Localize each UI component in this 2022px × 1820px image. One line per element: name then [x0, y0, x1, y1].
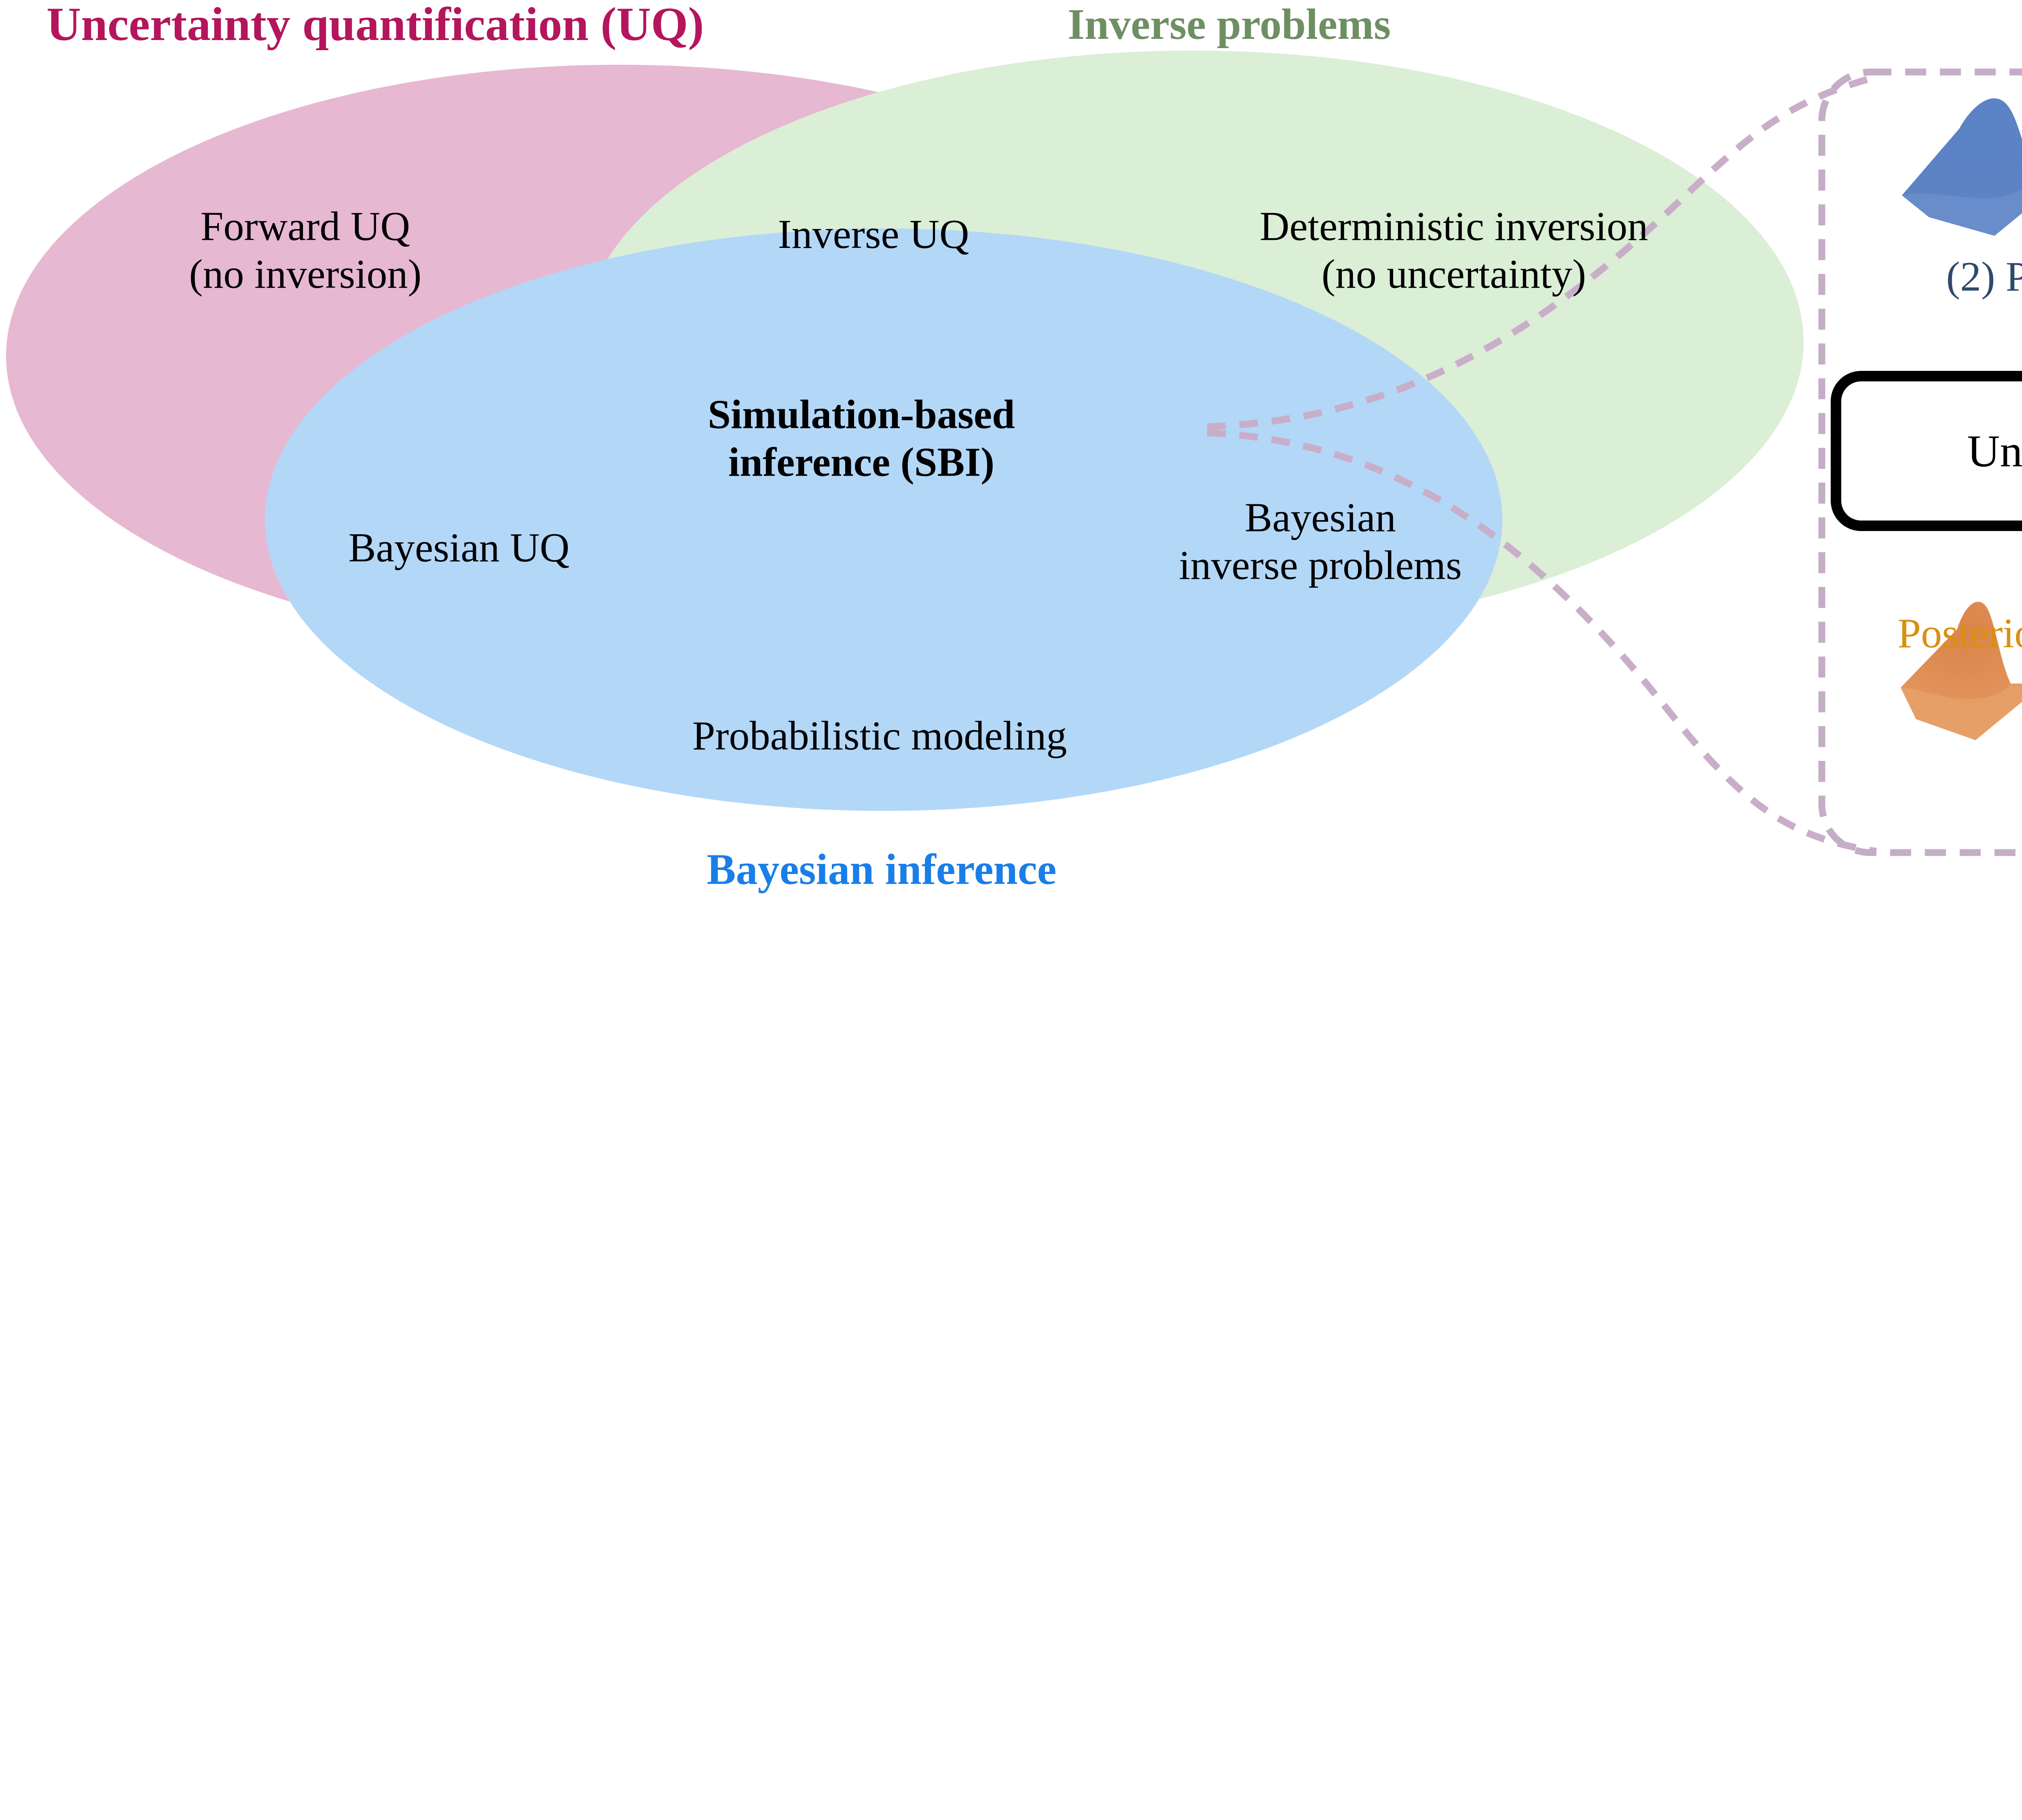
prior-label: (2) Prior — [1946, 253, 2022, 302]
region-simulation-based-inference: Simulation-based inference (SBI) — [708, 391, 1015, 487]
region-bayesian-uq: Bayesian UQ — [349, 524, 570, 572]
region-probabilistic-modeling: Probabilistic modeling — [692, 712, 1067, 760]
region-bayesian-inverse-problems: Bayesian inverse problems — [1179, 494, 1462, 590]
unknowns-box-label: Unknowns θ — [1967, 425, 2022, 478]
region-inverse-uq: Inverse UQ — [778, 211, 969, 258]
region-forward-uq: Forward UQ (no inversion) — [189, 203, 421, 299]
title-bayesian-inference: Bayesian inference — [707, 844, 1057, 895]
region-deterministic-inversion: Deterministic inversion (no uncertainty) — [1260, 203, 1648, 299]
prior-surface-icon — [1902, 98, 2022, 236]
figure-canvas: Uncertainty quantification (UQ) Inverse … — [0, 0, 2022, 1820]
posterior-label: Posterior — [1897, 609, 2022, 658]
title-uncertainty-quantification: Uncertainty quantification (UQ) — [47, 0, 704, 52]
title-inverse-problems: Inverse problems — [1068, 0, 1391, 50]
